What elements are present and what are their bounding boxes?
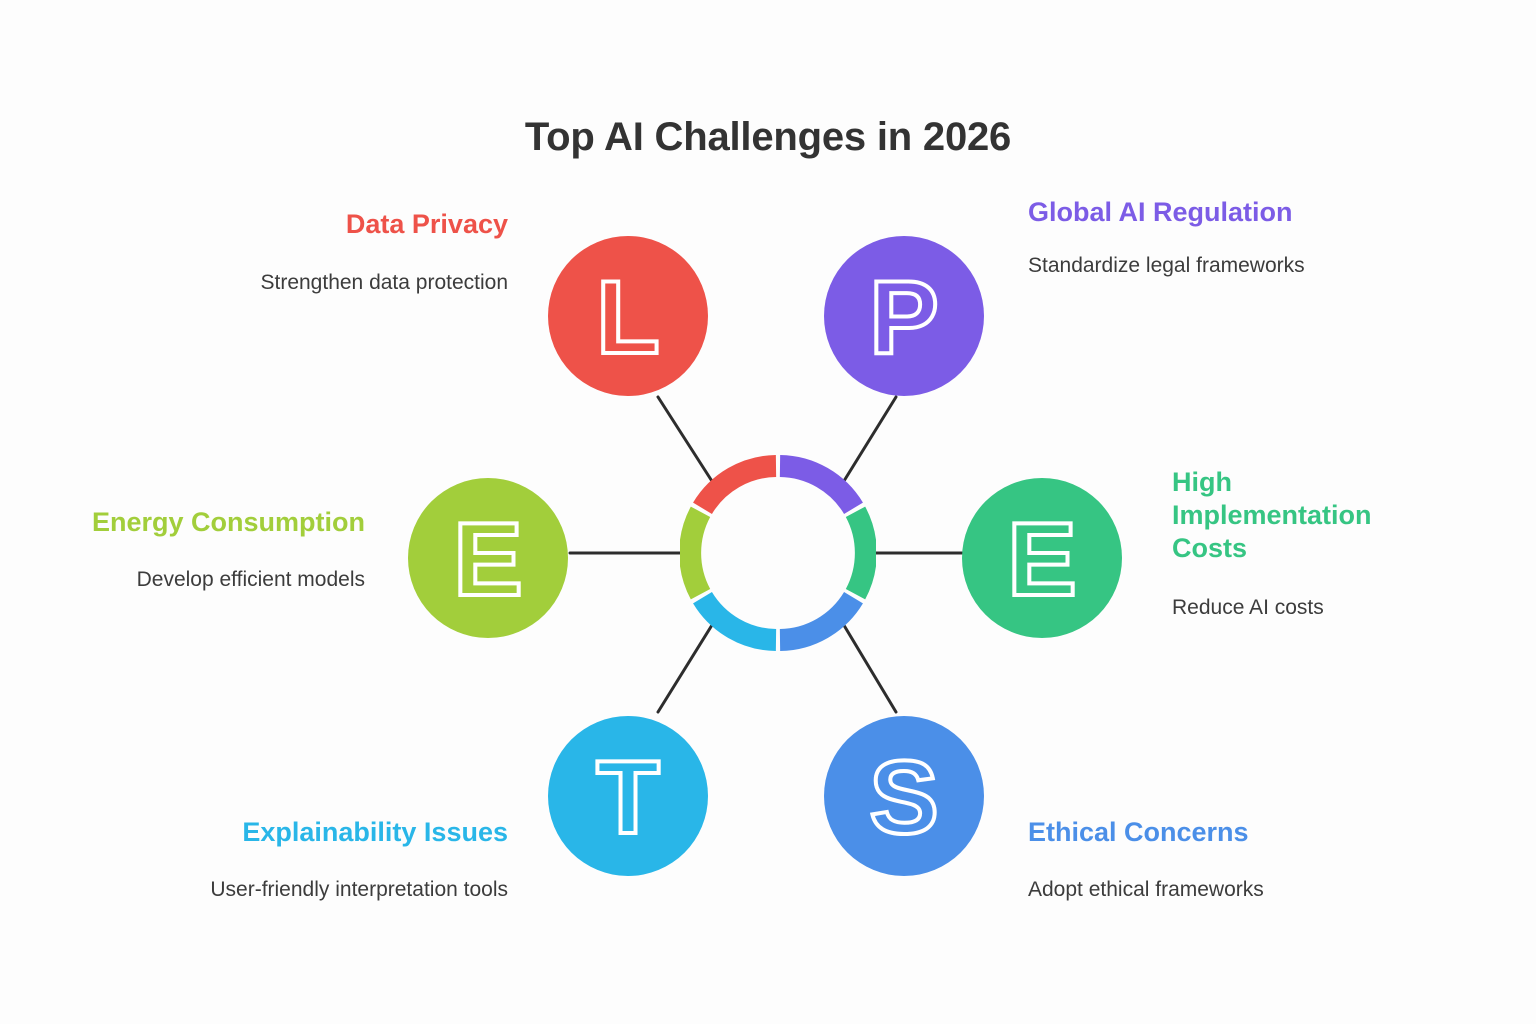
node-badge-ethical-concerns[interactable]: S [824, 716, 984, 876]
label-title: Ethical Concerns [1028, 816, 1368, 849]
node-badge-global-ai-regulation[interactable]: P [824, 236, 984, 396]
label-description: Adopt ethical frameworks [1028, 875, 1368, 905]
node-letter: T [596, 740, 660, 856]
node-badge-high-implementation-costs[interactable]: E [962, 478, 1122, 638]
center-segmented-ring [680, 455, 876, 651]
label-title: Explainability Issues [150, 816, 508, 849]
node-letter: L [596, 260, 660, 376]
node-badge-energy-consumption[interactable]: E [408, 478, 568, 638]
node-letter-p-icon: P [824, 236, 984, 396]
node-letter: E [453, 502, 522, 618]
node-badge-explainability-issues[interactable]: T [548, 716, 708, 876]
ring-segment-global-ai-regulation [780, 466, 854, 508]
node-letter-s-icon: S [824, 716, 984, 876]
node-letter: S [869, 740, 938, 856]
label-block-global-ai-regulation: Global AI Regulation Standardize legal f… [1028, 196, 1368, 281]
label-block-ethical-concerns: Ethical Concerns Adopt ethical framework… [1028, 816, 1368, 905]
ring-segment-ethical-concerns [780, 598, 854, 640]
ring-segment-energy-consumption [690, 512, 700, 594]
ring-segment-data-privacy [703, 466, 777, 508]
node-letter-l-icon: L [548, 236, 708, 396]
node-letter-t-icon: T [548, 716, 708, 876]
ring-segment-high-implementation-costs [856, 512, 866, 594]
label-block-energy-consumption: Energy Consumption Develop efficient mod… [20, 506, 365, 595]
label-title: High Implementation Costs [1172, 466, 1432, 565]
label-block-high-implementation-costs: High Implementation Costs Reduce AI cost… [1172, 466, 1432, 623]
ring-segment-explainability-issues [703, 598, 777, 640]
node-letter-e-icon: E [962, 478, 1122, 638]
label-title: Energy Consumption [20, 506, 365, 539]
label-title: Global AI Regulation [1028, 196, 1368, 229]
label-description: User-friendly interpretation tools [150, 875, 508, 905]
page-title: Top AI Challenges in 2026 [0, 115, 1536, 160]
label-description: Strengthen data protection [150, 268, 508, 298]
node-letter: E [1007, 502, 1076, 618]
label-description: Standardize legal frameworks [1028, 251, 1368, 281]
label-description: Reduce AI costs [1172, 593, 1432, 623]
label-block-explainability-issues: Explainability Issues User-friendly inte… [150, 816, 508, 905]
infographic-canvas: Top AI Challenges in 2026 [0, 0, 1536, 1024]
node-letter-e-icon: E [408, 478, 568, 638]
label-description: Develop efficient models [20, 565, 365, 595]
label-block-data-privacy: Data Privacy Strengthen data protection [150, 208, 508, 298]
node-letter: P [869, 260, 938, 376]
node-badge-data-privacy[interactable]: L [548, 236, 708, 396]
label-title: Data Privacy [150, 208, 508, 241]
